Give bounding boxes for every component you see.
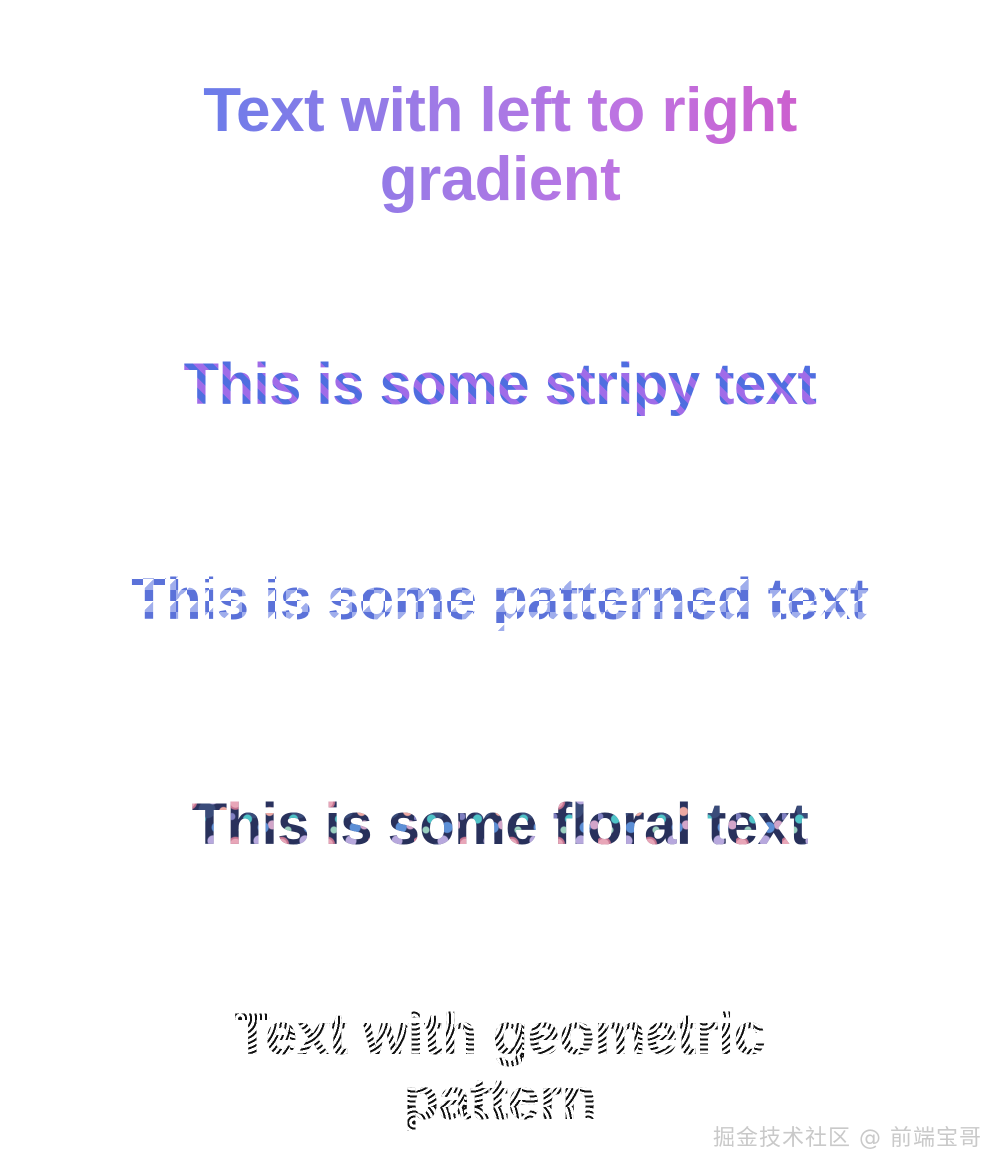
- demo-page: Text with left to right gradient This is…: [0, 0, 1000, 1166]
- gradient-text-heading: Text with left to right gradient: [0, 76, 1000, 215]
- stripy-text-heading: This is some stripy text: [0, 353, 1000, 418]
- floral-text-heading: This is some floral text: [0, 793, 1000, 858]
- geometric-text-heading: Text with geometric pattern: [0, 1003, 1000, 1133]
- patterned-text-heading: This is some patterned text: [0, 568, 1000, 633]
- watermark-label: 掘金技术社区 @ 前端宝哥: [713, 1120, 982, 1152]
